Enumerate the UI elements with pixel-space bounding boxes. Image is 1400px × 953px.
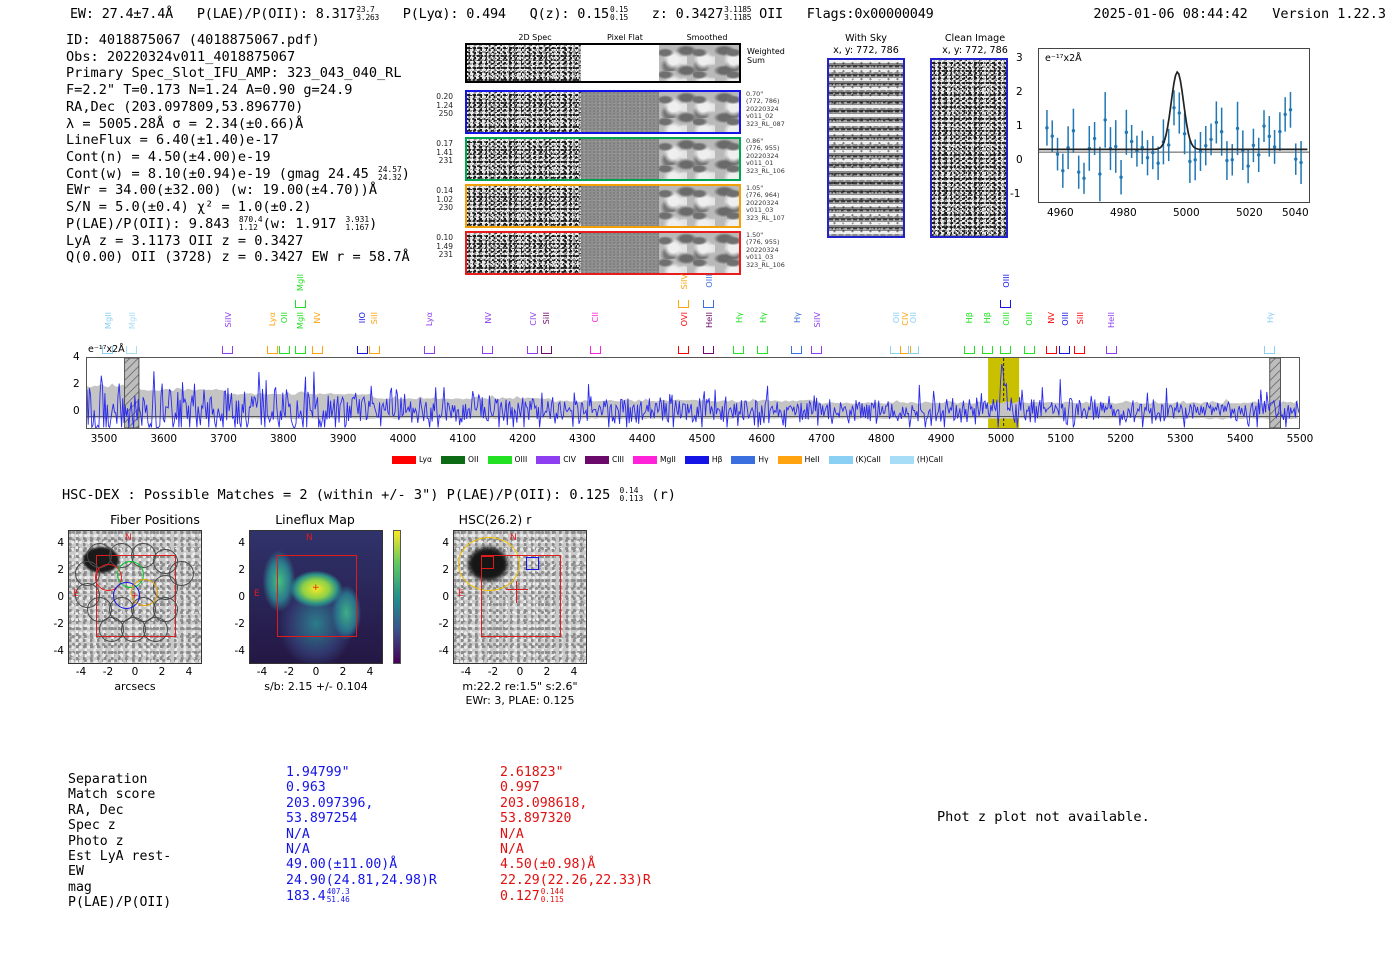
- panel3-xtick-2: 0: [507, 666, 533, 678]
- emission-bracket-20: [757, 346, 768, 354]
- info-specslot: Primary Spec_Slot_IFU_AMP: 323_043_040_R…: [66, 65, 410, 82]
- emission-line-H-19: Hγ: [734, 312, 744, 323]
- panel2-ytick-2: 0: [227, 591, 245, 603]
- panel2-xtick-0: -4: [249, 666, 275, 678]
- spec-xtick-4400: 4400: [625, 433, 659, 445]
- info-radec: RA,Dec (203.097809,53.896770): [66, 99, 410, 116]
- spec-xtick-4200: 4200: [506, 433, 540, 445]
- emission-line-MgII-0: MgII: [103, 312, 113, 329]
- legend-swatch-7: [731, 456, 755, 464]
- spec-xtick-3800: 3800: [266, 433, 300, 445]
- spec-ytick-0: 0: [73, 405, 80, 417]
- legend-item-H: Hβ: [685, 455, 723, 464]
- emission-line-IIO-8: IIO: [357, 312, 367, 323]
- emission-bracket-2: [222, 346, 233, 354]
- emission-line-MgII-5: MgII: [295, 274, 305, 291]
- col1-matchscore: 0.963: [286, 780, 437, 795]
- panel1-ytick-0: 4: [46, 537, 64, 549]
- legend-label-1: OII: [468, 455, 478, 464]
- emission-bracket-5: [295, 300, 306, 308]
- emission-bracket-32: [1059, 346, 1070, 354]
- clean-image-title: Clean Image x, y: 772, 786: [922, 33, 1028, 56]
- col1-plae: 183.4407.351.46: [286, 888, 437, 904]
- photz-unavailable-note: Phot z plot not available.: [937, 809, 1150, 825]
- weighted-sum-label: Weighted Sum: [747, 47, 785, 66]
- spec-xtick-3900: 3900: [326, 433, 360, 445]
- header-version: Version 1.22.3: [1272, 6, 1386, 22]
- row-label-mag: mag: [68, 880, 171, 895]
- fiber3-left-stats: 0.14 1.02 230: [419, 187, 453, 213]
- panel2-xtick-4: 4: [357, 666, 383, 678]
- lineflux-map-image: + N E: [249, 530, 383, 664]
- col2-radec: 203.098618, 53.897320: [500, 796, 651, 827]
- panel1-xtick-0: -4: [68, 666, 94, 678]
- row-label-estlya: Est LyA rest-EW: [68, 849, 171, 880]
- emission-line-OIII-32: OIII: [1060, 312, 1070, 326]
- panel1-xtick-2: 0: [122, 666, 148, 678]
- hsc-r-xlabel-2: EWr: 3, PLAE: 0.125: [440, 694, 600, 707]
- spec-xtick-4500: 4500: [685, 433, 719, 445]
- info-ewr: EWr = 34.00(±32.00) (w: 19.00(±4.70))Å: [66, 182, 410, 199]
- panel1-ytick-3: -2: [46, 618, 64, 630]
- weighted-sum-pixelflat: [581, 45, 659, 81]
- info-cont-w: Cont(w) = 8.10(±0.94)e-19 (gmag 24.45 24…: [66, 166, 410, 183]
- emission-bracket-16: [678, 346, 689, 354]
- panel3-xtick-0: -4: [453, 666, 479, 678]
- full-spectrum-plot: [86, 357, 1300, 429]
- col2-mag: 22.29(22.26,22.33)R: [500, 873, 651, 888]
- fit-xtick-5040: 5040: [1282, 207, 1309, 219]
- info-classification: Q(0.00) OII (3728) z = 0.3427 EW r = 58.…: [66, 249, 410, 266]
- emission-line-MgII-6: MgII: [295, 312, 305, 329]
- spec-xtick-5500: 5500: [1283, 433, 1317, 445]
- legend-item-CIV: CIV: [536, 455, 576, 464]
- compass-e-lineflux: E: [254, 589, 260, 599]
- emission-bracket-14: [590, 346, 601, 354]
- panel1-ytick-1: 2: [46, 564, 64, 576]
- legend-label-2: OIII: [515, 455, 528, 464]
- emission-bracket-31: [1046, 346, 1057, 354]
- panel2-xtick-1: -2: [276, 666, 302, 678]
- panel3-ytick-0: 4: [431, 537, 449, 549]
- line-fit-plot: e⁻¹⁷x2Å: [1038, 48, 1310, 203]
- emission-line-CII-14: CII: [590, 312, 600, 323]
- fiber4-right-meta: 1.50" (776, 955) 20220324 v011_03 323_RL…: [746, 232, 810, 269]
- fiber3-2dspec: [467, 186, 581, 226]
- panel-title-lineflux-map: Lineflux Map: [232, 512, 398, 527]
- legend-item-MgII: MgII: [633, 455, 676, 464]
- row-label-radec: RA, Dec: [68, 803, 171, 818]
- panel3-xtick-3: 2: [534, 666, 560, 678]
- fiber2-smoothed: [659, 139, 739, 179]
- legend-label-0: Lyα: [419, 455, 432, 464]
- emission-line-HeII-18: HeII: [704, 312, 714, 328]
- legend-swatch-1: [441, 456, 465, 464]
- col1-estlya: 49.00(±11.00)Å: [286, 857, 437, 872]
- fiber1-2dspec: [467, 92, 581, 132]
- match-table-col2: 2.61823" 0.997 203.098618, 53.897320 N/A…: [500, 765, 651, 904]
- spec2d-panel: 2D Spec Pixel Flat Smoothed Weighted Sum…: [455, 33, 755, 258]
- emission-line-SiIV-22: SiIV: [812, 312, 822, 328]
- legend-label-6: Hβ: [712, 455, 723, 464]
- emission-bracket-11: [482, 346, 493, 354]
- legend-swatch-10: [890, 456, 914, 464]
- spec-xtick-5300: 5300: [1163, 433, 1197, 445]
- emission-bracket-10: [424, 346, 435, 354]
- detection-info-block: ID: 4018875067 (4018875067.pdf) Obs: 202…: [66, 32, 410, 266]
- panel1-xtick-1: -2: [95, 666, 121, 678]
- emission-bracket-26: [964, 346, 975, 354]
- panel3-ytick-2: 0: [431, 591, 449, 603]
- hsc-dex-headline: HSC-DEX : Possible Matches = 2 (within +…: [62, 487, 676, 503]
- emission-line-H-35: Hγ: [1265, 312, 1275, 323]
- header-qz: Q(z): 0.150.150.15: [530, 6, 628, 22]
- fit-ytick-1: 1: [1016, 120, 1023, 132]
- header-z: z: 0.34273.11853.1185 OII: [652, 6, 783, 22]
- panel2-ytick-1: 2: [227, 564, 245, 576]
- panel3-ytick-1: 2: [431, 564, 449, 576]
- emission-bracket-27: [982, 346, 993, 354]
- spec-xtick-5400: 5400: [1223, 433, 1257, 445]
- fiber1-left-stats: 0.20 1.24 250: [419, 93, 453, 119]
- hsc-r-image: N E: [453, 530, 587, 664]
- emission-bracket-9: [369, 346, 380, 354]
- emission-line-H-27: Hβ: [982, 312, 992, 323]
- compass-n-fiber: N: [125, 533, 132, 543]
- compass-n-lineflux: N: [306, 533, 313, 543]
- emission-bracket-29: [1000, 300, 1011, 308]
- legend-swatch-8: [778, 456, 802, 464]
- spec-xtick-4700: 4700: [805, 433, 839, 445]
- header-ew: EW: 27.4±7.4Å: [70, 6, 173, 22]
- spec-xtick-3600: 3600: [147, 433, 181, 445]
- panel-title-fiber-positions: Fiber Positions: [60, 512, 250, 527]
- emission-bracket-8: [357, 346, 368, 354]
- legend-label-4: CIII: [612, 455, 624, 464]
- legend-swatch-6: [685, 456, 709, 464]
- panel1-ytick-2: 0: [46, 591, 64, 603]
- emission-bracket-35: [1264, 346, 1275, 354]
- panel2-ytick-0: 4: [227, 537, 245, 549]
- panel-title-hsc-r: HSC(26.2) r: [410, 512, 580, 527]
- emission-bracket-12: [527, 346, 538, 354]
- fiber2-right-meta: 0.86" (776, 955) 20220324 v011_01 323_RL…: [746, 138, 810, 175]
- legend-label-10: (H)CaII: [917, 455, 943, 464]
- fiber-strip-1: [465, 90, 741, 134]
- spec-xtick-4900: 4900: [924, 433, 958, 445]
- col1-separation: 1.94799": [286, 765, 437, 780]
- panel3-ytick-3: -2: [431, 618, 449, 630]
- fiber3-smoothed: [659, 186, 739, 226]
- col-title-smoothed: Smoothed: [665, 33, 749, 42]
- legend-item-OIII: OIII: [488, 455, 528, 464]
- legend-swatch-9: [829, 456, 853, 464]
- fit-ytick-3: 3: [1016, 52, 1023, 64]
- spec-xtick-5100: 5100: [1044, 433, 1078, 445]
- panel2-xtick-2: 0: [303, 666, 329, 678]
- panel1-xtick-3: 2: [149, 666, 175, 678]
- info-cont-n: Cont(n) = 4.50(±4.00)e-19: [66, 149, 410, 166]
- col2-photoz: N/A: [500, 842, 651, 857]
- fiber-strip-3: [465, 184, 741, 228]
- legend-item-CIII: CIII: [585, 455, 624, 464]
- legend-swatch-5: [633, 456, 657, 464]
- fiber1-right-meta: 0.70" (772, 786) 20220324 v011_02 323_RL…: [746, 91, 810, 128]
- fiber4-left-stats: 0.10 1.49 231: [419, 234, 453, 260]
- emission-bracket-28: [1000, 346, 1011, 354]
- spec-xtick-4100: 4100: [446, 433, 480, 445]
- legend-label-7: Hγ: [758, 455, 768, 464]
- emission-line-NV-31: NV: [1046, 312, 1056, 324]
- emission-bracket-7: [312, 346, 323, 354]
- compass-n-hsc: N: [510, 533, 517, 543]
- emission-bracket-21: [791, 346, 802, 354]
- col2-separation: 2.61823": [500, 765, 651, 780]
- legend-item-Ly: Lyα: [392, 455, 432, 464]
- spec-unit-label: e⁻¹⁷x2Å: [88, 344, 125, 355]
- info-id: ID: 4018875067 (4018875067.pdf): [66, 32, 410, 49]
- fit-xtick-4960: 4960: [1047, 207, 1074, 219]
- emission-line-OVI-16: OVI: [679, 312, 689, 326]
- fit-xtick-4980: 4980: [1110, 207, 1137, 219]
- match-table-col1: 1.94799" 0.963 203.097396, 53.897254 N/A…: [286, 765, 437, 904]
- legend-label-5: MgII: [660, 455, 676, 464]
- compass-e-fiber: E: [73, 589, 79, 599]
- spec-xtick-4000: 4000: [386, 433, 420, 445]
- emission-line-NV-11: NV: [483, 312, 493, 324]
- emission-bracket-25: [908, 346, 919, 354]
- spec-xtick-5200: 5200: [1104, 433, 1138, 445]
- emission-bracket-4: [279, 346, 290, 354]
- hsc-match2-marker: [526, 557, 539, 570]
- spec-xtick-5000: 5000: [984, 433, 1018, 445]
- panel2-ytick-3: -2: [227, 618, 245, 630]
- fit-xtick-5020: 5020: [1236, 207, 1263, 219]
- emission-bracket-17: [703, 300, 714, 308]
- fit-ytick-0: 0: [1016, 154, 1023, 166]
- emission-bracket-18: [703, 346, 714, 354]
- col-title-2dspec: 2D Spec: [493, 33, 577, 42]
- emission-bracket-33: [1074, 346, 1085, 354]
- spec-ytick-2: 2: [73, 378, 80, 390]
- row-label-separation: Separation: [68, 772, 171, 787]
- fiber2-pixelflat: [581, 139, 659, 179]
- info-seeing: F=2.2" T=0.173 N=1.24 A=0.90 g=24.9: [66, 82, 410, 99]
- fiber4-smoothed: [659, 233, 739, 273]
- header-summary-line: EW: 27.4±7.4Å P(LAE)/P(OII): 8.31723.73.…: [70, 6, 934, 22]
- emission-line-Ly-3: Lyα: [267, 312, 277, 326]
- info-plae-w-range: 3.9311.167: [345, 216, 369, 232]
- emission-line-SiII-13: SiII: [541, 312, 551, 324]
- legend-swatch-4: [585, 456, 609, 464]
- panel3-xtick-1: -2: [480, 666, 506, 678]
- emission-line-OII-25: OII: [908, 312, 918, 323]
- emission-bracket-19: [733, 346, 744, 354]
- col2-estlya: 4.50(±0.98)Å: [500, 857, 651, 872]
- row-label-plae: P(LAE)/P(OII): [68, 895, 171, 910]
- fiber3-pixelflat: [581, 186, 659, 226]
- fiber-positions-xlabel: arcsecs: [68, 680, 202, 693]
- header-timestamp-version: 2025-01-06 08:44:42 Version 1.22.3: [1093, 6, 1386, 22]
- fiber4-2dspec: [467, 233, 581, 273]
- emission-line-OIII-30: OIII: [1024, 312, 1034, 326]
- fiber2-2dspec: [467, 139, 581, 179]
- col1-photoz: N/A: [286, 842, 437, 857]
- emission-line-SiII-9: SiII: [369, 312, 379, 324]
- hsc-plae-range: 0.140.113: [620, 487, 644, 503]
- panel2-ytick-4: -4: [227, 645, 245, 657]
- legend-swatch-2: [488, 456, 512, 464]
- panel1-ytick-4: -4: [46, 645, 64, 657]
- spec-xtick-4800: 4800: [864, 433, 898, 445]
- fiber-positions-image: + N E: [68, 530, 202, 664]
- legend-item-H: Hγ: [731, 455, 768, 464]
- legend-item-HCaII: (H)CaII: [890, 455, 943, 464]
- emission-line-CIV-12: CIV: [528, 312, 538, 326]
- lineflux-map-xlabel: s/b: 2.15 +/- 0.104: [240, 680, 392, 693]
- header-plya: P(Lyα): 0.494: [403, 6, 506, 22]
- legend-label-3: CIV: [563, 455, 576, 464]
- emission-bracket-15: [678, 300, 689, 308]
- header-flags: Flags:0x00000049: [807, 6, 934, 22]
- row-label-photoz: Photo z: [68, 834, 171, 849]
- fit-ytick-2: 2: [1016, 86, 1023, 98]
- info-wavelength: λ = 5005.28Å σ = 2.34(±0.66)Å: [66, 116, 410, 133]
- panel3-xtick-4: 4: [561, 666, 587, 678]
- with-sky-cutout: [827, 58, 905, 238]
- row-label-matchscore: Match score: [68, 787, 171, 802]
- panel2-xtick-3: 2: [330, 666, 356, 678]
- fiber2-left-stats: 0.17 1.41 231: [419, 140, 453, 166]
- emission-line-OII-4: OII: [279, 312, 289, 323]
- row-label-specz: Spec z: [68, 818, 171, 833]
- legend-swatch-0: [392, 456, 416, 464]
- col2-matchscore: 0.997: [500, 780, 651, 795]
- legend-swatch-3: [536, 456, 560, 464]
- fiber-strip-2: [465, 137, 741, 181]
- emission-line-MgII-1: MgII: [127, 312, 137, 329]
- spec-xtick-4300: 4300: [565, 433, 599, 445]
- emission-line-SiIV-2: SiIV: [223, 312, 233, 328]
- emission-line-H-20: Hγ: [758, 312, 768, 323]
- emission-line-SiII-33: SiII: [1075, 312, 1085, 324]
- spec-xtick-3700: 3700: [207, 433, 241, 445]
- emission-line-Ly-10: Lyα: [424, 312, 434, 326]
- clean-image-cutout: [930, 58, 1008, 238]
- full-spectrum-svg: [87, 358, 1299, 428]
- legend-item-KCaII: (K)CaII: [829, 455, 881, 464]
- panel1-xtick-4: 4: [176, 666, 202, 678]
- legend-item-OII: OII: [441, 455, 478, 464]
- panel3-ytick-4: -4: [431, 645, 449, 657]
- col1-specz: N/A: [286, 827, 437, 842]
- col1-mag: 24.90(24.81,24.98)R: [286, 873, 437, 888]
- match-table-labels: Separation Match score RA, Dec Spec z Ph…: [68, 772, 171, 911]
- emission-line-H-26: Hβ: [964, 312, 974, 323]
- header-plae: P(LAE)/P(OII): 8.31723.73.263: [197, 6, 379, 22]
- legend-label-9: (K)CaII: [856, 455, 881, 464]
- col-title-pixelflat: Pixel Flat: [583, 33, 667, 42]
- emission-bracket-30: [1024, 346, 1035, 354]
- emission-bracket-13: [541, 346, 552, 354]
- info-plae: P(LAE)/P(OII): 9.843 870.41.12(w: 1.917 …: [66, 216, 410, 233]
- info-obs: Obs: 20220324v011_4018875067: [66, 49, 410, 66]
- col2-plae: 0.1270.1440.115: [500, 888, 651, 904]
- fiber1-pixelflat: [581, 92, 659, 132]
- compass-e-hsc: E: [458, 589, 464, 599]
- emission-line-H-21: Hγ: [792, 312, 802, 323]
- emission-bracket-22: [811, 346, 822, 354]
- legend-label-8: HeII: [805, 455, 820, 464]
- fit-xtick-5000: 5000: [1173, 207, 1200, 219]
- hsc-r-xlabel-1: m:22.2 re:1.5" s:2.6": [440, 680, 600, 693]
- info-plae-range: 870.41.12: [239, 216, 263, 232]
- emission-line-OIII-29: OIII: [1001, 274, 1011, 288]
- legend-item-HeII: HeII: [778, 455, 820, 464]
- fit-unit-label: e⁻¹⁷x2Å: [1045, 53, 1082, 64]
- spec-xtick-3500: 3500: [87, 433, 121, 445]
- lineflux-colorbar: [393, 530, 401, 664]
- info-gmag-range: 24.5724.32: [378, 166, 402, 182]
- fiber1-smoothed: [659, 92, 739, 132]
- weighted-sum-strip: [465, 43, 741, 83]
- spec-ytick-4: 4: [73, 351, 80, 363]
- emission-bracket-6: [295, 346, 306, 354]
- col2-specz: N/A: [500, 827, 651, 842]
- with-sky-title: With Sky x, y: 772, 786: [818, 33, 914, 56]
- emission-bracket-34: [1106, 346, 1117, 354]
- weighted-sum-smoothed: [659, 45, 739, 81]
- emission-line-OIII-17: OIII: [704, 274, 714, 288]
- emission-line-SiIV-15: SiIV: [679, 274, 689, 290]
- header-timestamp: 2025-01-06 08:44:42: [1093, 6, 1247, 22]
- emission-bracket-1: [126, 346, 137, 354]
- hsc-match1-marker: [481, 556, 494, 569]
- spectrum-legend: LyαOIIOIIICIVCIIIMgIIHβHγHeII(K)CaII(H)C…: [392, 455, 943, 464]
- fiber4-pixelflat: [581, 233, 659, 273]
- spec-xtick-4600: 4600: [745, 433, 779, 445]
- weighted-sum-2dspec: [467, 45, 581, 81]
- line-fit-svg: [1039, 49, 1309, 202]
- fit-ytick-neg1: -1: [1010, 188, 1020, 200]
- col1-radec: 203.097396, 53.897254: [286, 796, 437, 827]
- emission-line-OIII-28: OIII: [1001, 312, 1011, 326]
- info-snr-chi2: S/N = 5.0(±0.4) χ² = 1.0(±0.2): [66, 199, 410, 216]
- emission-line-HeII-34: HeII: [1106, 312, 1116, 328]
- info-redshifts: LyA z = 3.1173 OII z = 0.3427: [66, 233, 410, 250]
- emission-bracket-3: [267, 346, 278, 354]
- emission-line-NV-7: NV: [312, 312, 322, 324]
- fiber3-right-meta: 1.05" (776, 964) 20220324 v011_03 323_RL…: [746, 185, 810, 222]
- info-lineflux: LineFlux = 6.40(±1.40)e-17: [66, 132, 410, 149]
